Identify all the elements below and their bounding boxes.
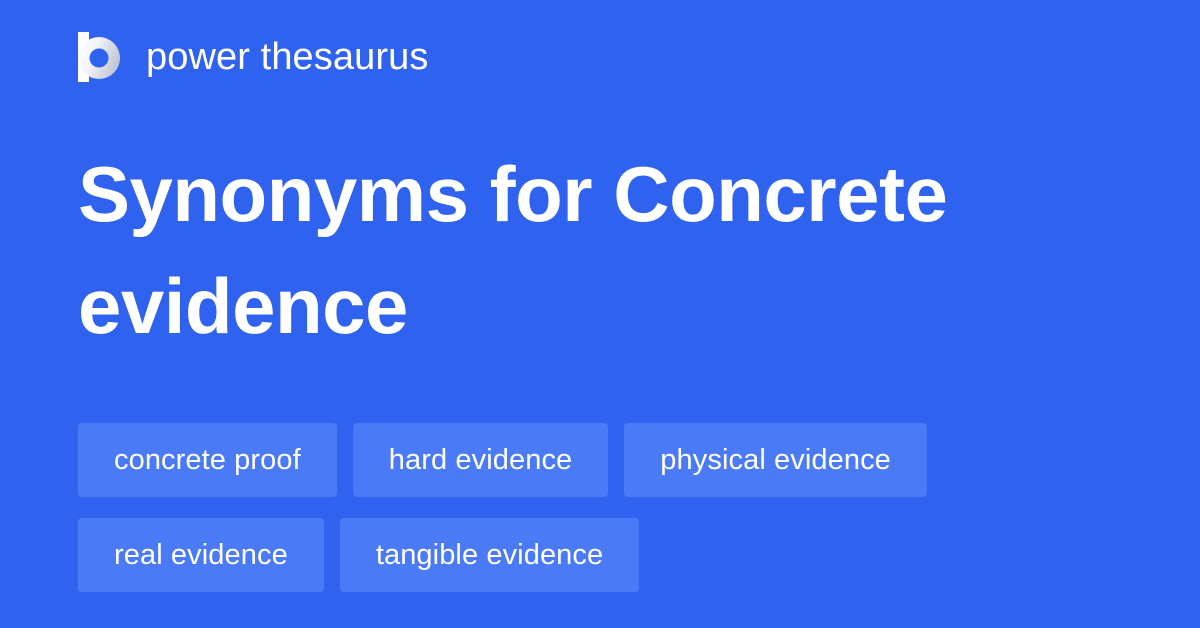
share-card: power thesaurus Synonyms for Concrete ev… — [0, 0, 1200, 628]
brand-header: power thesaurus — [78, 26, 428, 88]
synonym-chip[interactable]: concrete proof — [78, 423, 337, 497]
page-title-line-1: Synonyms for Concrete — [78, 150, 947, 238]
synonym-chip[interactable]: hard evidence — [353, 423, 609, 497]
power-thesaurus-logo-icon — [78, 32, 124, 82]
synonym-chip[interactable]: tangible evidence — [340, 518, 639, 592]
page-title-line-2: evidence — [78, 262, 408, 350]
brand-name: power thesaurus — [146, 38, 428, 76]
synonym-chip[interactable]: physical evidence — [624, 423, 927, 497]
synonym-chip-list: concrete proof hard evidence physical ev… — [78, 423, 1128, 592]
synonym-chip[interactable]: real evidence — [78, 518, 324, 592]
page-title: Synonyms for Concrete evidence — [78, 138, 1078, 362]
